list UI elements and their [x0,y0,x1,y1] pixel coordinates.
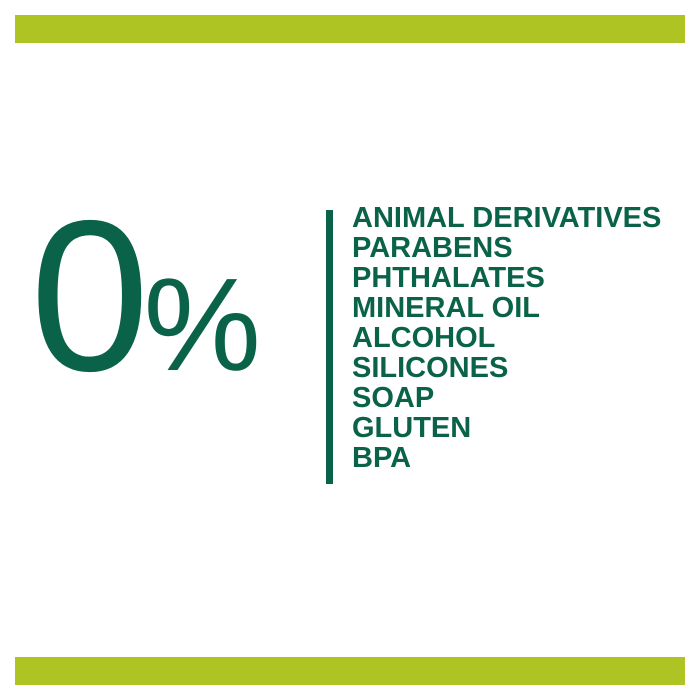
claim-item-soap: SOAP [352,383,692,413]
percent-symbol: % [144,251,260,398]
claim-item-parabens: PARABENS [352,233,692,263]
claim-item-alcohol: ALCOHOL [352,323,692,353]
claim-item-bpa: BPA [352,443,692,473]
headline-composition: 0% ANIMAL DERIVATIVES PARABENS PHTHALATE… [0,195,700,495]
zero-percent-block: 0% [30,195,315,495]
graphic-canvas: 0% ANIMAL DERIVATIVES PARABENS PHTHALATE… [0,0,700,700]
claim-item-mineral-oil: MINERAL OIL [352,293,692,323]
vertical-divider [326,210,333,484]
zero-number: 0 [30,175,148,416]
bottom-rule-bar [15,657,685,685]
claim-item-animal-derivatives: ANIMAL DERIVATIVES [352,203,692,233]
top-rule-bar [15,15,685,43]
claim-item-phthalates: PHTHALATES [352,263,692,293]
zero-percent-text: 0% [30,188,315,403]
claims-list: ANIMAL DERIVATIVES PARABENS PHTHALATES M… [352,203,692,473]
claim-item-silicones: SILICONES [352,353,692,383]
claim-item-gluten: GLUTEN [352,413,692,443]
